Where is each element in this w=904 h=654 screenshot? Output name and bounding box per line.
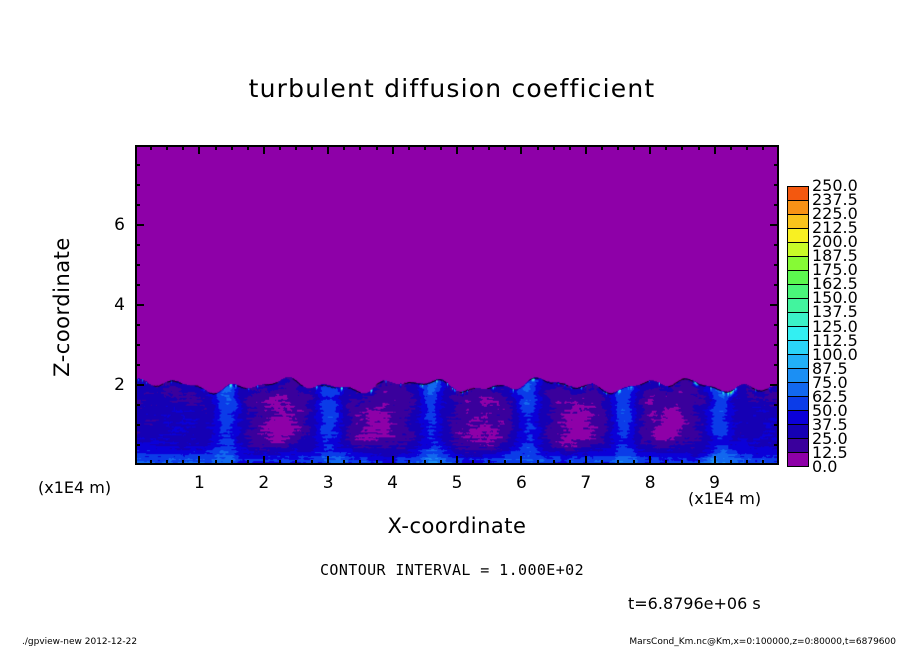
x-tick-label: 4	[373, 473, 413, 493]
z-unit-label: (x1E4 m)	[38, 478, 111, 497]
y-tick-right	[774, 344, 779, 346]
x-tick	[247, 460, 249, 465]
x-tick	[198, 456, 200, 465]
x-tick-top	[714, 145, 716, 154]
y-tick-right	[770, 304, 779, 306]
x-tick	[569, 460, 571, 465]
x-tick-label: 7	[566, 473, 606, 493]
x-tick	[263, 456, 265, 465]
colorbar-band	[788, 243, 808, 257]
y-tick	[135, 364, 140, 366]
y-tick	[135, 424, 140, 426]
x-tick-top	[440, 145, 442, 150]
y-tick-right	[774, 164, 779, 166]
x-tick	[698, 460, 700, 465]
colorbar-band	[788, 327, 808, 341]
x-tick	[472, 460, 474, 465]
x-tick	[295, 460, 297, 465]
x-tick	[150, 460, 152, 465]
x-tick	[649, 456, 651, 465]
x-tick	[408, 460, 410, 465]
x-tick-label: 3	[308, 473, 348, 493]
y-tick-right	[774, 424, 779, 426]
x-tick-top	[698, 145, 700, 150]
heatmap-canvas	[137, 147, 777, 463]
colorbar-band	[788, 397, 808, 411]
colorbar	[787, 186, 809, 467]
x-tick-label: 1	[179, 473, 219, 493]
x-tick	[392, 456, 394, 465]
y-tick-right	[774, 364, 779, 366]
y-tick-right	[774, 284, 779, 286]
x-tick	[504, 460, 506, 465]
x-tick	[424, 460, 426, 465]
y-tick	[135, 244, 140, 246]
x-tick	[231, 460, 233, 465]
colorbar-band	[788, 201, 808, 215]
y-tick-label: 6	[85, 215, 125, 235]
y-tick-right	[774, 404, 779, 406]
footer-command: ./gpview-new 2012-12-22	[22, 637, 137, 647]
x-tick	[730, 460, 732, 465]
x-tick	[601, 460, 603, 465]
colorbar-band	[788, 425, 808, 439]
x-tick-top	[231, 145, 233, 150]
x-tick-top	[327, 145, 329, 154]
y-tick-right	[774, 204, 779, 206]
colorbar-band	[788, 215, 808, 229]
x-tick-top	[520, 145, 522, 154]
page-title: turbulent diffusion coefficient	[0, 74, 904, 103]
x-tick	[762, 460, 764, 465]
colorbar-band	[788, 257, 808, 271]
y-tick	[135, 304, 144, 306]
y-tick-right	[774, 444, 779, 446]
x-tick-top	[359, 145, 361, 150]
x-tick-top	[247, 145, 249, 150]
x-tick	[553, 460, 555, 465]
x-tick-top	[408, 145, 410, 150]
x-tick-top	[762, 145, 764, 150]
x-tick	[456, 456, 458, 465]
x-tick-top	[295, 145, 297, 150]
y-tick	[135, 184, 140, 186]
x-tick	[279, 460, 281, 465]
y-tick	[135, 324, 140, 326]
x-tick-top	[553, 145, 555, 150]
y-tick	[135, 444, 140, 446]
x-tick-top	[504, 145, 506, 150]
x-tick	[343, 460, 345, 465]
x-tick-top	[472, 145, 474, 150]
x-tick-top	[424, 145, 426, 150]
y-tick-right	[770, 384, 779, 386]
x-tick-top	[488, 145, 490, 150]
y-tick	[135, 264, 140, 266]
x-tick-top	[150, 145, 152, 150]
plot-area	[135, 145, 779, 465]
x-tick	[166, 460, 168, 465]
x-tick	[665, 460, 667, 465]
x-tick	[681, 460, 683, 465]
y-tick	[135, 164, 140, 166]
x-tick-top	[263, 145, 265, 154]
footer-source: MarsCond_Km.nc@Km,x=0:100000,z=0:80000,t…	[629, 637, 896, 647]
colorbar-band	[788, 271, 808, 285]
x-tick-top	[569, 145, 571, 150]
x-axis-label: X-coordinate	[135, 514, 779, 538]
contour-interval-note: CONTOUR INTERVAL = 1.000E+02	[0, 561, 904, 579]
x-tick-top	[665, 145, 667, 150]
x-tick-label: 6	[501, 473, 541, 493]
x-tick	[359, 460, 361, 465]
colorbar-band	[788, 383, 808, 397]
x-tick-top	[730, 145, 732, 150]
colorbar-tick-label: 0.0	[812, 459, 837, 475]
x-tick-top	[392, 145, 394, 154]
y-tick-right	[770, 224, 779, 226]
x-tick-top	[182, 145, 184, 150]
x-tick-top	[343, 145, 345, 150]
colorbar-band	[788, 453, 808, 466]
x-tick	[585, 456, 587, 465]
colorbar-band	[788, 411, 808, 425]
x-tick-top	[311, 145, 313, 150]
x-tick	[746, 460, 748, 465]
x-tick	[633, 460, 635, 465]
colorbar-band	[788, 341, 808, 355]
x-tick-label: 5	[437, 473, 477, 493]
y-tick-label: 2	[85, 375, 125, 395]
colorbar-band	[788, 299, 808, 313]
x-tick	[440, 460, 442, 465]
x-tick-top	[601, 145, 603, 150]
x-tick	[617, 460, 619, 465]
y-tick	[135, 404, 140, 406]
x-tick	[520, 456, 522, 465]
x-tick-top	[376, 145, 378, 150]
x-tick-top	[633, 145, 635, 150]
x-tick-top	[215, 145, 217, 150]
x-tick	[215, 460, 217, 465]
x-tick-top	[746, 145, 748, 150]
colorbar-band	[788, 355, 808, 369]
x-tick	[488, 460, 490, 465]
y-tick	[135, 344, 140, 346]
colorbar-labels: 250.0237.5225.0212.5200.0187.5175.0162.5…	[812, 179, 902, 479]
y-tick	[135, 384, 144, 386]
x-unit-label: (x1E4 m)	[688, 489, 761, 508]
x-tick-top	[681, 145, 683, 150]
y-tick	[135, 284, 140, 286]
y-tick	[135, 224, 144, 226]
x-tick-top	[279, 145, 281, 150]
x-tick	[182, 460, 184, 465]
x-tick	[714, 456, 716, 465]
time-stamp-note: t=6.8796e+06 s	[628, 594, 761, 613]
y-tick-right	[774, 324, 779, 326]
y-axis-label: Z-coordinate	[50, 207, 74, 407]
x-tick-top	[198, 145, 200, 154]
x-tick-top	[617, 145, 619, 150]
x-tick-top	[537, 145, 539, 150]
x-tick-top	[456, 145, 458, 154]
x-tick	[311, 460, 313, 465]
x-tick-top	[585, 145, 587, 154]
x-tick	[537, 460, 539, 465]
x-tick	[327, 456, 329, 465]
colorbar-band	[788, 313, 808, 327]
colorbar-band	[788, 439, 808, 453]
y-tick	[135, 204, 140, 206]
x-tick-top	[166, 145, 168, 150]
colorbar-band	[788, 369, 808, 383]
y-tick-right	[774, 264, 779, 266]
y-tick-right	[774, 244, 779, 246]
y-tick-right	[774, 184, 779, 186]
y-tick-label: 4	[85, 295, 125, 315]
x-tick-label: 2	[244, 473, 284, 493]
x-tick-top	[649, 145, 651, 154]
x-tick-label: 8	[630, 473, 670, 493]
colorbar-band	[788, 187, 808, 201]
colorbar-band	[788, 285, 808, 299]
x-tick	[376, 460, 378, 465]
colorbar-band	[788, 229, 808, 243]
